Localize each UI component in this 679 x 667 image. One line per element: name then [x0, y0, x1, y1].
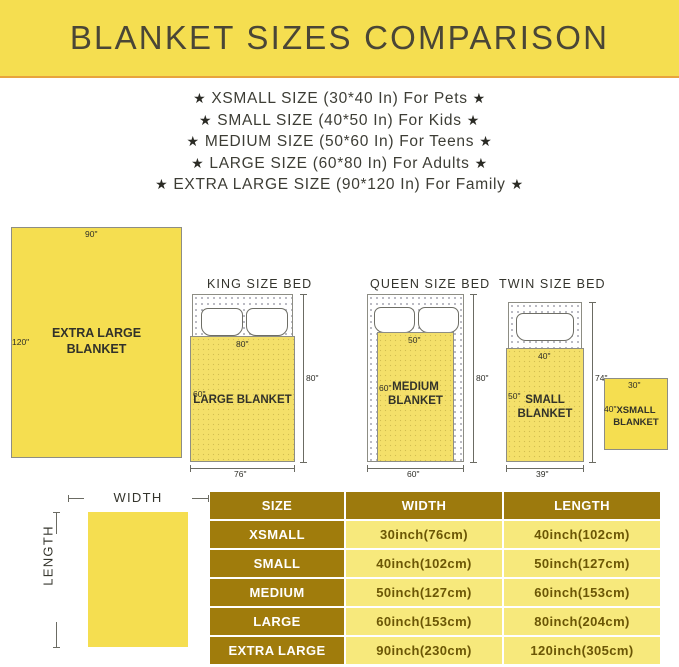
key-width-rule-right	[192, 498, 208, 499]
list-item: ★ EXTRA LARGE SIZE (90*120 In) For Famil…	[0, 174, 679, 196]
queen-width-tick-left	[367, 465, 368, 472]
key-blanket-swatch	[88, 512, 188, 647]
twin-bed-width-label: 39"	[536, 469, 548, 479]
cell-length: 50inch(127cm)	[504, 550, 660, 577]
cell-length: 120inch(305cm)	[504, 637, 660, 664]
table-row: SMALL 40inch(102cm) 50inch(127cm)	[210, 550, 660, 577]
list-item-label: MEDIUM SIZE (50*60 In) For Teens	[205, 133, 474, 150]
cell-width: 30inch(76cm)	[346, 521, 502, 548]
cell-width: 40inch(102cm)	[346, 550, 502, 577]
king-width-tick-right	[294, 465, 295, 472]
cell-width: 50inch(127cm)	[346, 579, 502, 606]
list-item: ★ XSMALL SIZE (30*40 In) For Pets ★	[0, 88, 679, 110]
list-item-label: EXTRA LARGE SIZE (90*120 In) For Family	[173, 176, 505, 193]
key-length-rule-top	[56, 512, 57, 534]
large-blanket-height-label: 60"	[193, 389, 205, 399]
column-header-width: WIDTH	[346, 492, 502, 519]
size-bullet-list: ★ XSMALL SIZE (30*40 In) For Pets ★ ★ SM…	[0, 88, 679, 196]
star-icon: ★	[473, 90, 486, 106]
table-row: XSMALL 30inch(76cm) 40inch(102cm)	[210, 521, 660, 548]
width-length-key: WIDTH LENGTH	[20, 488, 200, 663]
queen-bed-title: QUEEN SIZE BED	[370, 277, 490, 291]
size-chart-table: SIZE WIDTH LENGTH XSMALL 30inch(76cm) 40…	[208, 490, 662, 666]
large-blanket-width-label: 80"	[236, 339, 248, 349]
cell-length: 60inch(153cm)	[504, 579, 660, 606]
queen-height-rule	[473, 294, 474, 462]
key-width-label: WIDTH	[88, 490, 188, 505]
cell-size: LARGE	[210, 608, 344, 635]
table-row: MEDIUM 50inch(127cm) 60inch(153cm)	[210, 579, 660, 606]
king-height-tick-bottom	[300, 462, 307, 463]
king-bed-height-label: 80"	[306, 373, 318, 383]
key-length-tick-bottom	[53, 647, 60, 648]
list-item: ★ LARGE SIZE (60*80 In) For Adults ★	[0, 153, 679, 175]
large-blanket-label: LARGE BLANKET	[191, 393, 294, 407]
large-blanket-shape: LARGE BLANKET	[190, 336, 295, 462]
page-header: BLANKET SIZES COMPARISON	[0, 0, 679, 78]
list-item: ★ MEDIUM SIZE (50*60 In) For Teens ★	[0, 131, 679, 153]
cell-size: EXTRA LARGE	[210, 637, 344, 664]
cell-length: 80inch(204cm)	[504, 608, 660, 635]
medium-blanket-shape: MEDIUM BLANKET	[377, 332, 454, 462]
king-height-tick-top	[300, 294, 307, 295]
twin-width-tick-left	[506, 465, 507, 472]
queen-pillow-left	[374, 307, 415, 333]
blanket-comparison-diagram: EXTRA LARGE BLANKET 90" 120" KING SIZE B…	[0, 215, 679, 480]
extra-large-blanket-label: EXTRA LARGE BLANKET	[12, 326, 181, 357]
queen-pillow-right	[418, 307, 459, 333]
extra-large-width-label: 90"	[85, 229, 97, 239]
extra-large-blanket-shape: EXTRA LARGE BLANKET	[11, 227, 182, 458]
star-icon: ★	[199, 112, 212, 128]
twin-height-tick-top	[589, 302, 596, 303]
small-blanket-shape: SMALL BLANKET	[506, 348, 584, 462]
xsmall-width-label: 30"	[628, 380, 640, 390]
small-blanket-width-label: 40"	[538, 351, 550, 361]
cell-size: SMALL	[210, 550, 344, 577]
table-row: LARGE 60inch(153cm) 80inch(204cm)	[210, 608, 660, 635]
twin-width-tick-right	[583, 465, 584, 472]
cell-width: 60inch(153cm)	[346, 608, 502, 635]
list-item-label: SMALL SIZE (40*50 In) For Kids	[217, 112, 461, 129]
cell-size: MEDIUM	[210, 579, 344, 606]
page-title: BLANKET SIZES COMPARISON	[70, 19, 609, 57]
twin-bed-title: TWIN SIZE BED	[499, 277, 606, 291]
key-length-rule-bottom	[56, 622, 57, 647]
star-icon: ★	[155, 176, 168, 192]
queen-height-tick-bottom	[470, 462, 477, 463]
queen-bed-height-label: 80"	[476, 373, 488, 383]
list-item: ★ SMALL SIZE (40*50 In) For Kids ★	[0, 110, 679, 132]
queen-width-tick-right	[463, 465, 464, 472]
star-icon: ★	[191, 155, 204, 171]
key-length-tick-top	[53, 512, 60, 513]
key-length-label: LENGTH	[41, 506, 56, 606]
twin-height-tick-bottom	[589, 462, 596, 463]
star-icon: ★	[187, 133, 200, 149]
star-icon: ★	[467, 112, 480, 128]
twin-height-rule	[592, 302, 593, 462]
star-icon: ★	[475, 155, 488, 171]
table-header-row: SIZE WIDTH LENGTH	[210, 492, 660, 519]
cell-length: 40inch(102cm)	[504, 521, 660, 548]
twin-pillow	[516, 313, 574, 341]
small-blanket-height-label: 50"	[508, 391, 520, 401]
king-width-tick-left	[190, 465, 191, 472]
star-icon: ★	[479, 133, 492, 149]
star-icon: ★	[193, 90, 206, 106]
medium-blanket-height-label: 60"	[379, 383, 391, 393]
cell-width: 90inch(230cm)	[346, 637, 502, 664]
star-icon: ★	[511, 176, 524, 192]
table-row: EXTRA LARGE 90inch(230cm) 120inch(305cm)	[210, 637, 660, 664]
key-width-tick-left	[68, 495, 69, 502]
list-item-label: XSMALL SIZE (30*40 In) For Pets	[211, 90, 467, 107]
extra-large-height-label: 120"	[12, 337, 29, 347]
queen-height-tick-top	[470, 294, 477, 295]
king-pillow-right	[246, 308, 288, 336]
king-pillow-left	[201, 308, 243, 336]
list-item-label: LARGE SIZE (60*80 In) For Adults	[209, 155, 469, 172]
king-height-rule	[303, 294, 304, 462]
cell-size: XSMALL	[210, 521, 344, 548]
king-bed-title: KING SIZE BED	[207, 277, 312, 291]
xsmall-height-label: 40"	[604, 404, 616, 414]
column-header-length: LENGTH	[504, 492, 660, 519]
king-bed-width-label: 76"	[234, 469, 246, 479]
queen-bed-width-label: 60"	[407, 469, 419, 479]
key-width-rule-left	[68, 498, 84, 499]
medium-blanket-width-label: 50"	[408, 335, 420, 345]
column-header-size: SIZE	[210, 492, 344, 519]
